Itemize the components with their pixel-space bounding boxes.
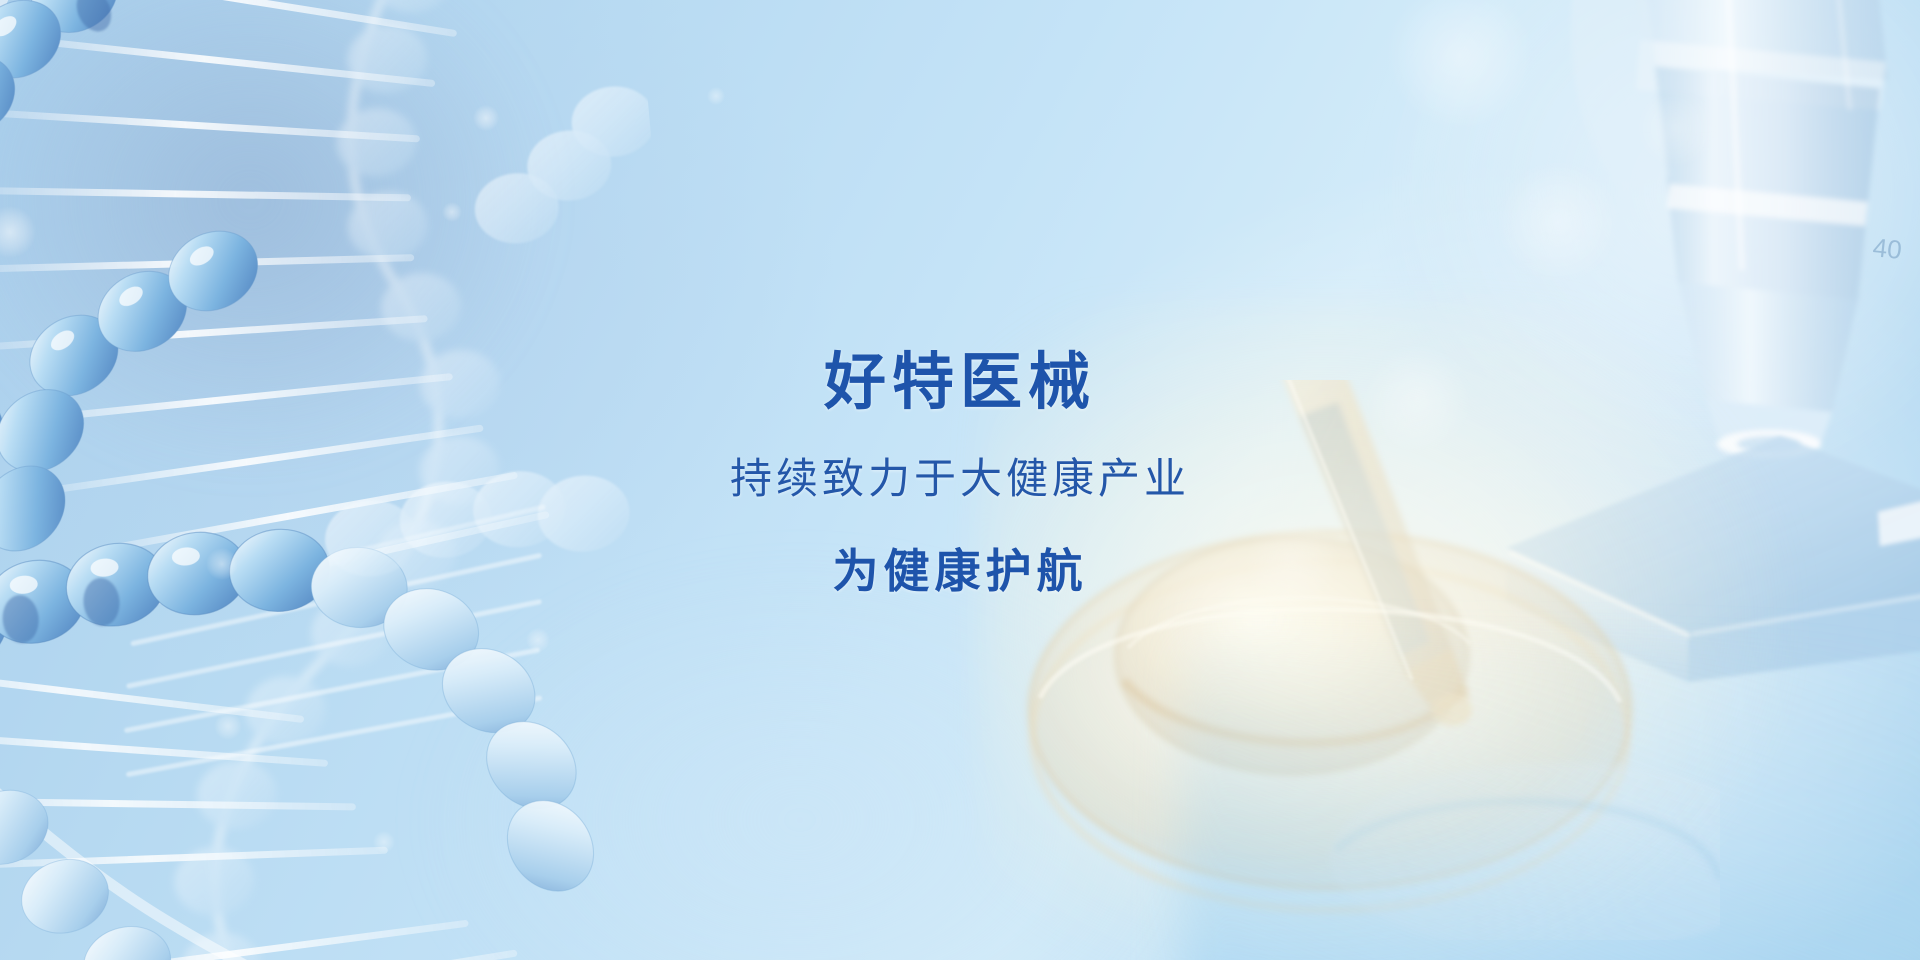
hero-copy: 好特医械 持续致力于大健康产业 为健康护航: [0, 0, 1920, 960]
hero-subtitle: 持续致力于大健康产业: [730, 458, 1190, 500]
hero-banner: 40: [0, 0, 1920, 960]
hero-tagline: 为健康护航: [833, 548, 1088, 594]
page-title: 好特医械: [824, 352, 1096, 414]
